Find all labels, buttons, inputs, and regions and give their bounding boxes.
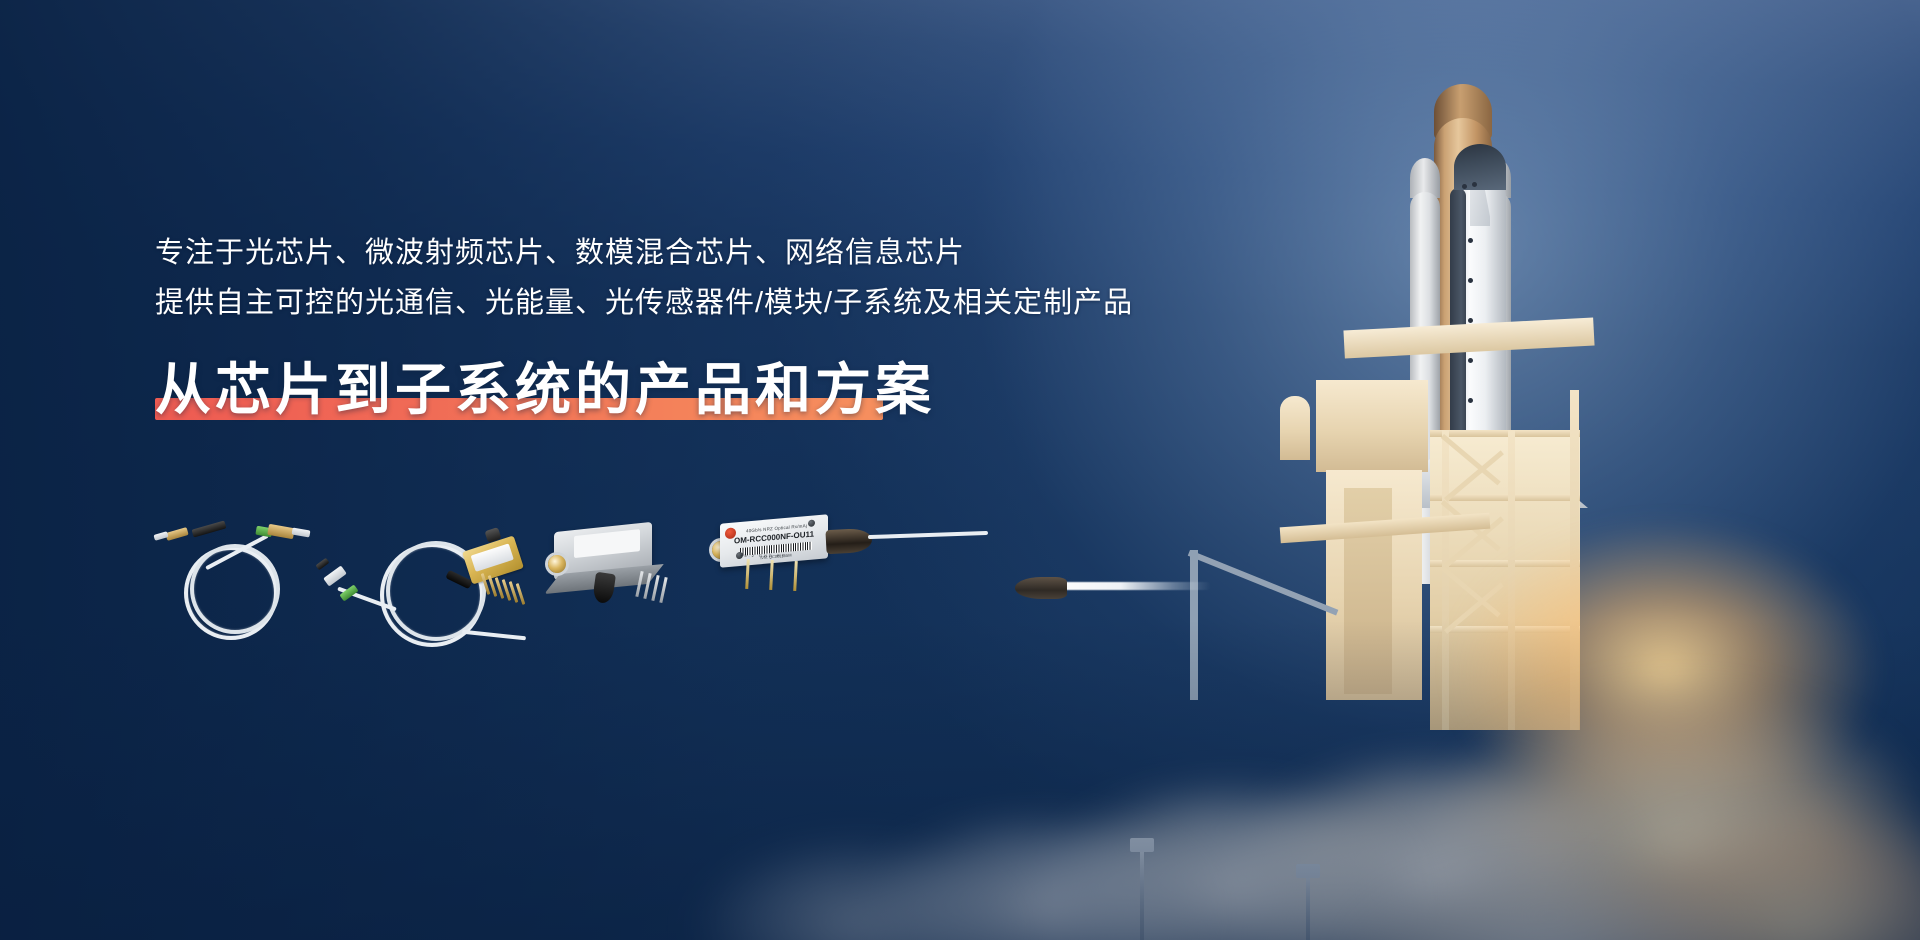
subheading-line-1: 专注于光芯片、微波射频芯片、数模混合芯片、网络信息芯片	[155, 228, 1155, 278]
product-rf-optical-transmitter-box	[554, 517, 734, 657]
hero-banner: 专注于光芯片、微波射频芯片、数模混合芯片、网络信息芯片 提供自主可控的光通信、光…	[0, 0, 1920, 940]
product-butterfly-laser-module	[450, 515, 570, 635]
tower-upper-block	[1316, 380, 1428, 472]
page-title: 从芯片到子系统的产品和方案	[155, 354, 935, 426]
orbiter-nose-icon	[1454, 144, 1506, 190]
product-showcase: 40Gb/s NRZ Optical Rx/mAj OM-RCC000NF-OU…	[150, 525, 1170, 675]
orbiter-marking	[1468, 278, 1473, 283]
receiver-pin	[745, 559, 750, 589]
orbiter-marking	[1468, 318, 1473, 323]
enclosure-label	[574, 529, 640, 558]
fiber-strain-relief	[825, 528, 872, 554]
enclosure-pin	[651, 575, 659, 601]
orbiter-hatch	[1468, 238, 1473, 243]
fiber-connector-tip	[315, 558, 329, 570]
package-lid	[471, 543, 514, 572]
fiber-connector-body	[267, 524, 295, 539]
receiver-enclosure: 40Gb/s NRZ Optical Rx/mAj OM-RCC000NF-OU…	[720, 514, 828, 567]
sma-connector-icon	[548, 555, 566, 573]
orbiter-marking	[1468, 358, 1473, 363]
receiver-pin	[769, 560, 774, 590]
fiber-loop	[190, 544, 280, 634]
product-fiber-patch-cord-lc	[150, 520, 310, 640]
orbiter-window	[1462, 184, 1467, 189]
receiver-pin	[793, 561, 798, 591]
fiber-connector-boot	[192, 520, 227, 537]
orbiter-window	[1472, 182, 1477, 187]
tower-stack-vent	[1280, 396, 1310, 460]
enclosure-screw	[808, 519, 815, 527]
subheading-line-2: 提供自主可控的光通信、光能量、光传感器件/模块/子系统及相关定制产品	[155, 278, 1155, 328]
enclosure-pin	[659, 577, 667, 603]
tower-beam	[1430, 430, 1580, 437]
fiber-connector-tail	[292, 527, 311, 537]
fiber-connector-ferrule	[165, 527, 188, 541]
hero-copy: 专注于光芯片、微波射频芯片、数模混合芯片、网络信息芯片 提供自主可控的光通信、光…	[155, 228, 1155, 426]
butterfly-package	[462, 535, 524, 584]
product-optical-receiver-module: 40Gb/s NRZ Optical Rx/mAj OM-RCC000NF-OU…	[720, 511, 1020, 651]
receiver-pin-labels: +5.2 GND RF	[740, 553, 786, 558]
output-fiber-cable	[868, 531, 988, 539]
headline-block: 从芯片到子系统的产品和方案	[155, 348, 1155, 426]
fiber-connector-body	[323, 565, 347, 586]
fiber-strain-relief	[592, 572, 616, 604]
